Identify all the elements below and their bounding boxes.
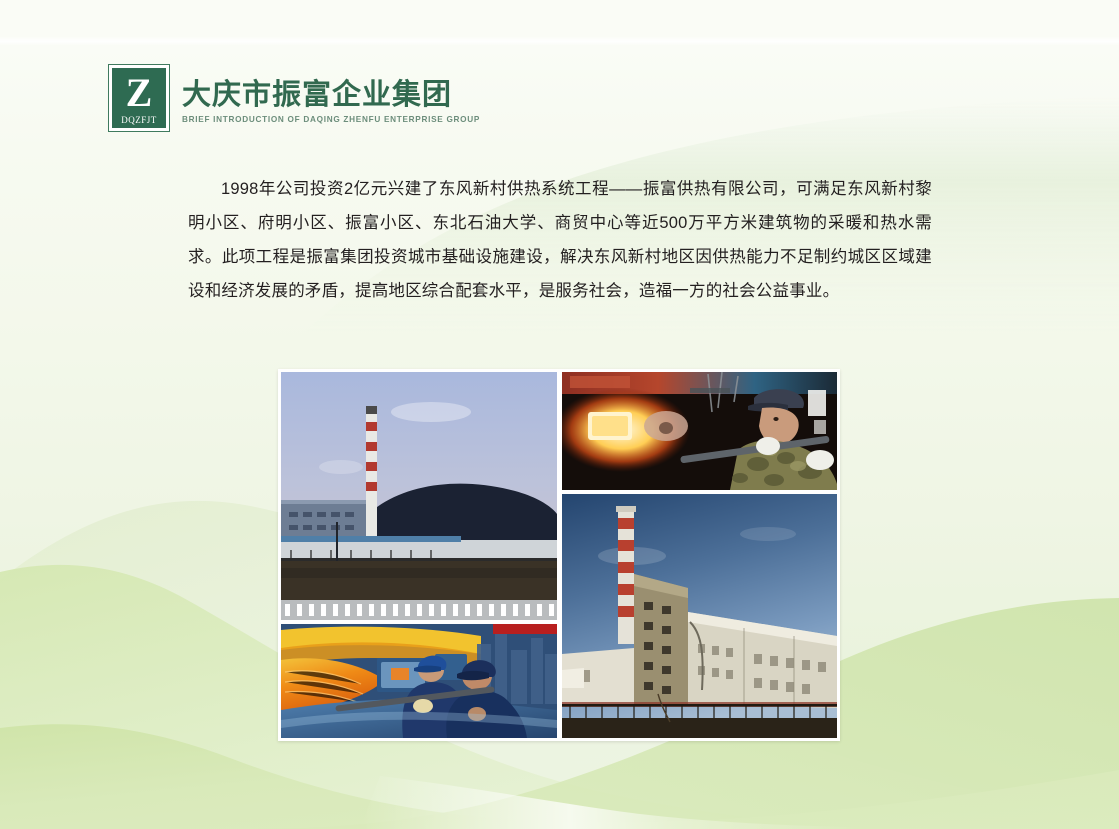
- photo-plant-wide: [281, 372, 557, 620]
- company-logo-icon: Z DQZFJT: [108, 64, 170, 132]
- photo-furnace-worker: [562, 372, 837, 490]
- company-name-title: 大庆市振富企业集团: [182, 80, 480, 110]
- photo-control-room-workers: [281, 624, 557, 738]
- introduction-paragraph: 1998年公司投资2亿元兴建了东风新村供热系统工程——振富供热有限公司，可满足东…: [188, 172, 932, 308]
- logo-abbreviation: DQZFJT: [121, 115, 157, 125]
- background-highlight-band: [0, 36, 1119, 46]
- photo-plant-tall: [562, 494, 837, 738]
- logo-monogram: Z: [126, 73, 153, 113]
- photo-collage: [278, 369, 840, 741]
- background-top-strip: [0, 0, 1119, 38]
- brand-text-block: 大庆市振富企业集团 BRIEF INTRODUCTION OF DAQING Z…: [182, 64, 480, 124]
- brand-header: Z DQZFJT 大庆市振富企业集团 BRIEF INTRODUCTION OF…: [108, 64, 480, 132]
- company-name-subtitle: BRIEF INTRODUCTION OF DAQING ZHENFU ENTE…: [182, 115, 480, 124]
- slide-page: Z DQZFJT 大庆市振富企业集团 BRIEF INTRODUCTION OF…: [0, 0, 1119, 829]
